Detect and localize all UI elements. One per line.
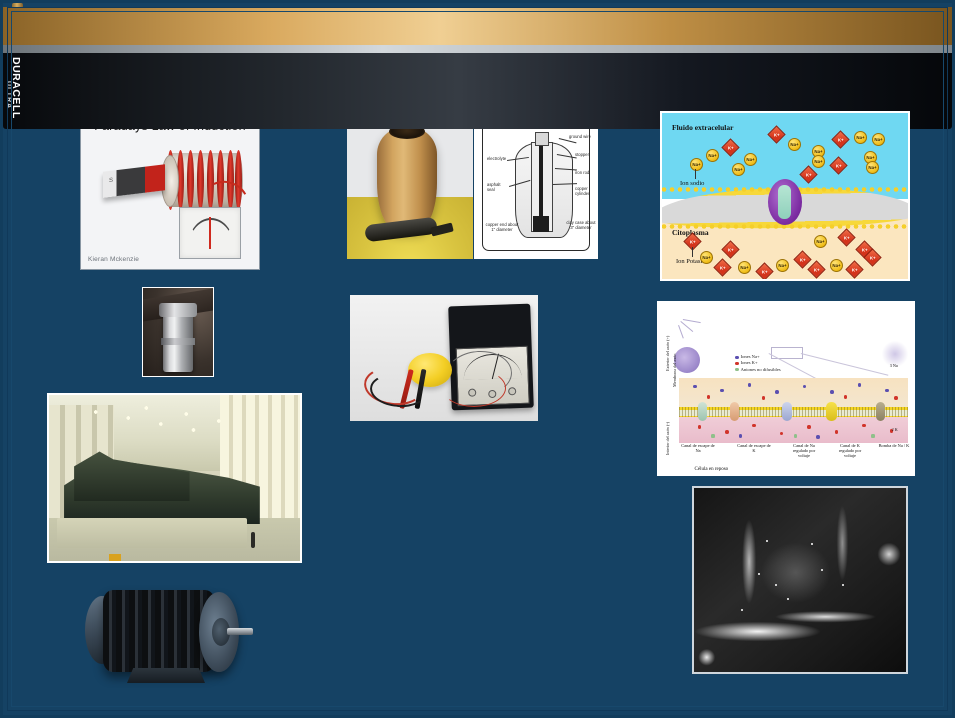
axon-legend: Iones Na+ Iones K+ Aniones no difusibles xyxy=(735,354,780,373)
neuron-micrograph xyxy=(692,486,908,674)
label-exterior-axon: Exterior del axón (+) xyxy=(665,336,670,371)
clay-vessel-icon xyxy=(377,127,437,231)
membrane-protein-icon xyxy=(768,179,802,225)
label-ground-wire: ground wire xyxy=(569,134,598,139)
power-plant-photo xyxy=(47,393,302,563)
label-stopper: stopper xyxy=(575,152,598,157)
label-2k: 2 K xyxy=(892,427,898,432)
label-ion-sodio: Ion sodio xyxy=(680,180,704,187)
label-canal-escape-k: Canal de escape de K xyxy=(737,443,771,453)
faraday-credit: Kieran Mckenzie xyxy=(88,256,139,263)
label-membrana-axon: Membrana del axón xyxy=(672,354,677,388)
ion-na: Na+ xyxy=(690,158,703,171)
baghdad-jar-photo xyxy=(347,111,473,259)
axon-channels-diagram: Iones Na+ Iones K+ Aniones no difusibles xyxy=(657,301,915,476)
label-copper-cylinder: copper cylinder xyxy=(575,186,598,196)
battery-schematic: ground wire stopper iron rod copper cyli… xyxy=(474,111,598,259)
generator-part-photo xyxy=(142,287,214,377)
label-asphalt-seal: asphalt seal xyxy=(487,182,507,192)
label-copper-end: copper end about 1" diameter xyxy=(485,222,519,232)
cell-membrane-diagram: Fluido extracelular Citoplasma Na+ Ion s… xyxy=(660,111,910,281)
label-electrolyte: electrolyte xyxy=(487,156,509,161)
label-canal-escape-na: Canal de escape de Na xyxy=(681,443,715,453)
battery-line-label: ULTRA xyxy=(5,81,12,109)
label-clay-case: clay case about 3" diameter xyxy=(565,220,597,230)
label-celula-en-reposo: Célula en reposo xyxy=(695,467,729,472)
label-canal-k-voltaje: Canal de K regulado por voltaje xyxy=(833,443,867,459)
bar-magnet-icon: S xyxy=(103,164,165,198)
galvanometer-icon xyxy=(179,207,241,259)
person-silhouette xyxy=(251,532,255,548)
duracell-battery: DURACELL ULTRA xyxy=(3,3,31,131)
slide-canvas: MOVIMIENTO DE ELECTRONES = ELECTRICIDAD … xyxy=(0,0,955,718)
metal-cylinder-icon xyxy=(163,310,193,372)
label-canal-na-voltaje: Canal de Na regulado por voltaje xyxy=(787,443,821,459)
lemon-battery-photo xyxy=(350,295,538,421)
motor-shaft xyxy=(227,628,253,635)
faraday-law-image: Faradays Law of Induction S Kieran Mcken… xyxy=(80,110,260,270)
label-bomba-na-k: Bomba de Na / K xyxy=(877,443,911,448)
label-iron-rod: iron rod xyxy=(575,170,598,175)
label-fluido-extracelular: Fluido extracelular xyxy=(672,123,733,132)
magnet-pole-label: S xyxy=(109,178,113,184)
label-3na: 3 Na xyxy=(890,363,898,368)
electric-motor-photo xyxy=(81,576,267,688)
label-interior-axon: Interior del axón (-) xyxy=(665,422,670,455)
